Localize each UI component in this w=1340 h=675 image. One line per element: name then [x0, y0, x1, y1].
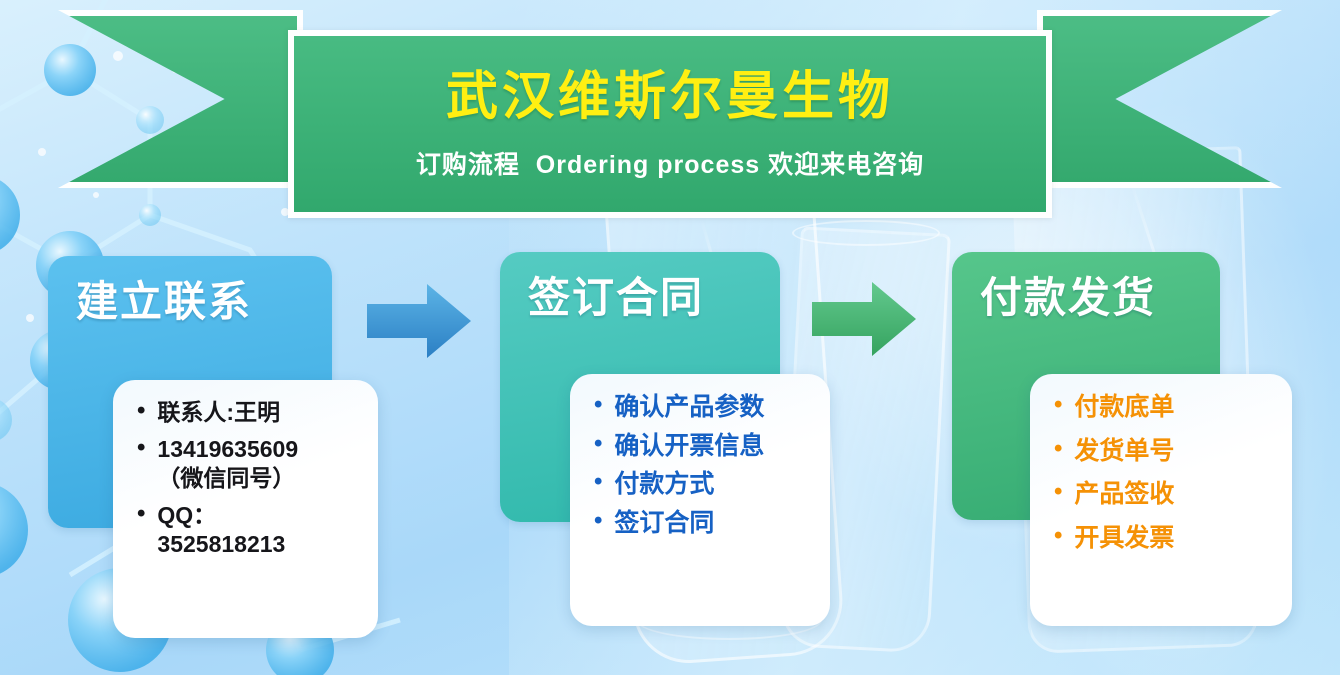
list-item-text: 开具发票 — [1074, 523, 1174, 555]
bullet-icon: • — [137, 398, 145, 425]
list-item-text: 确认产品参数 — [614, 392, 764, 424]
bullet-icon: • — [137, 501, 145, 528]
list-item-text: 联系人:王明 — [157, 398, 280, 427]
list-item: • 联系人:王明 — [137, 398, 358, 427]
bullet-icon: • — [1054, 436, 1062, 463]
list-item-text: 确认开票信息 — [614, 431, 764, 463]
list-item: • 付款底单 — [1054, 392, 1272, 424]
list-item-text: 产品签收 — [1074, 479, 1174, 511]
list-item: • 开具发票 — [1054, 523, 1272, 555]
banner-subtitle: 订购流程 Ordering process 欢迎来电咨询 — [416, 145, 924, 181]
list-item-text: 签订合同 — [614, 508, 714, 540]
bullet-icon: • — [594, 508, 602, 535]
ribbon-center-band: 武汉维斯尔曼生物 订购流程 Ordering process 欢迎来电咨询 — [288, 30, 1052, 218]
list-item: • 13419635609 （微信同号） — [137, 435, 358, 493]
list-item: • 签订合同 — [594, 508, 810, 540]
bullet-icon: • — [137, 435, 145, 462]
step-details-contract: • 确认产品参数 • 确认开票信息 • 付款方式 • 签订合同 — [570, 374, 830, 626]
arrow-step1-to-step2 — [367, 282, 471, 360]
flow-step-contract: 签订合同 • 确认产品参数 • 确认开票信息 • 付款方式 • 签订合同 — [500, 252, 830, 632]
list-item-text: 发货单号 — [1074, 436, 1174, 468]
company-title: 武汉维斯尔曼生物 — [446, 71, 894, 123]
header-ribbon-banner: 武汉维斯尔曼生物 订购流程 Ordering process 欢迎来电咨询 — [0, 0, 1340, 232]
bullet-icon: • — [1054, 479, 1062, 506]
bullet-icon: • — [1054, 523, 1062, 550]
list-item-text: 付款方式 — [614, 469, 714, 501]
list-item-text: 付款底单 — [1074, 392, 1174, 424]
step-header-label: 建立联系 — [48, 256, 252, 324]
list-item: • 确认开票信息 — [594, 431, 810, 463]
step-details-contact: • 联系人:王明 • 13419635609 （微信同号） • QQ： 3525… — [113, 380, 378, 638]
arrow-step2-to-step3 — [812, 280, 916, 358]
ribbon-tail-right — [1037, 10, 1282, 188]
bullet-icon: • — [1054, 392, 1062, 419]
bullet-icon: • — [594, 431, 602, 458]
flow-step-payment-shipping: 付款发货 • 付款底单 • 发货单号 • 产品签收 • 开具发票 — [952, 252, 1292, 632]
step-header-label: 付款发货 — [952, 252, 1156, 320]
ribbon-tail-left — [58, 10, 303, 188]
step-header-label: 签订合同 — [500, 252, 704, 320]
bullet-icon: • — [594, 392, 602, 419]
ordering-process-flow: 建立联系 • 联系人:王明 • 13419635609 （微信同号） • QQ：… — [0, 236, 1340, 675]
step-details-payment-shipping: • 付款底单 • 发货单号 • 产品签收 • 开具发票 — [1030, 374, 1292, 626]
step-item-list: • 付款底单 • 发货单号 • 产品签收 • 开具发票 — [1054, 392, 1272, 554]
list-item: • QQ： 3525818213 — [137, 501, 358, 559]
bullet-icon: • — [594, 469, 602, 496]
list-item-text: 13419635609 （微信同号） — [157, 435, 298, 493]
list-item: • 确认产品参数 — [594, 392, 810, 424]
step-item-list: • 确认产品参数 • 确认开票信息 • 付款方式 • 签订合同 — [594, 392, 810, 539]
flow-step-contact: 建立联系 • 联系人:王明 • 13419635609 （微信同号） • QQ：… — [48, 256, 378, 651]
list-item: • 付款方式 — [594, 469, 810, 501]
list-item: • 产品签收 — [1054, 479, 1272, 511]
step-item-list: • 联系人:王明 • 13419635609 （微信同号） • QQ： 3525… — [137, 398, 358, 559]
list-item: • 发货单号 — [1054, 436, 1272, 468]
list-item-text: QQ： 3525818213 — [157, 501, 285, 559]
